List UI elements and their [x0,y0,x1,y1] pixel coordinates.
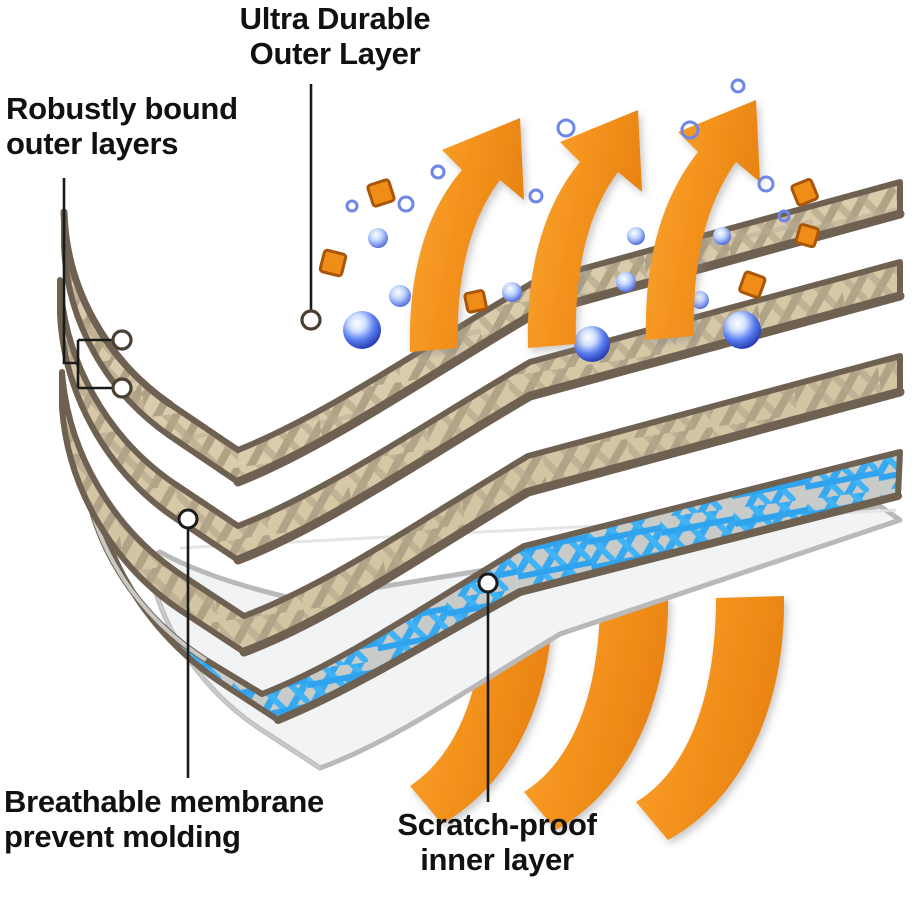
callout-dot [302,311,320,329]
label-line-1: Robustly bound [6,92,296,127]
droplet [723,311,761,349]
diagram-canvas: Ultra Durable Outer Layer Robustly bound… [0,0,916,902]
droplet [574,326,610,362]
droplet [627,227,645,245]
dirt-particle [796,224,820,248]
label-line-2: prevent molding [4,820,384,855]
callout-dot [179,510,197,528]
label-line-1: Ultra Durable [205,2,465,37]
label-line-1: Scratch-proof [372,808,622,843]
callout-dot [113,331,131,349]
callout-dot [113,379,131,397]
label-ultra-durable-outer-layer: Ultra Durable Outer Layer [205,2,465,71]
label-line-2: inner layer [372,843,622,878]
dirt-particle [367,179,395,207]
label-breathable-membrane: Breathable membrane prevent molding [4,785,384,854]
droplet [502,282,522,302]
droplet [389,285,411,307]
label-robustly-bound-outer-layers: Robustly bound outer layers [6,92,296,161]
dirt-particle [464,290,487,313]
droplet [368,228,388,248]
callout-dot [479,574,497,592]
droplet [343,311,381,349]
droplet [616,272,636,292]
label-scratch-proof-inner-layer: Scratch-proof inner layer [372,808,622,877]
label-line-1: Breathable membrane [4,785,384,820]
dirt-particle [320,250,347,277]
label-line-2: outer layers [6,127,296,162]
label-line-2: Outer Layer [205,37,465,72]
droplet [713,227,731,245]
